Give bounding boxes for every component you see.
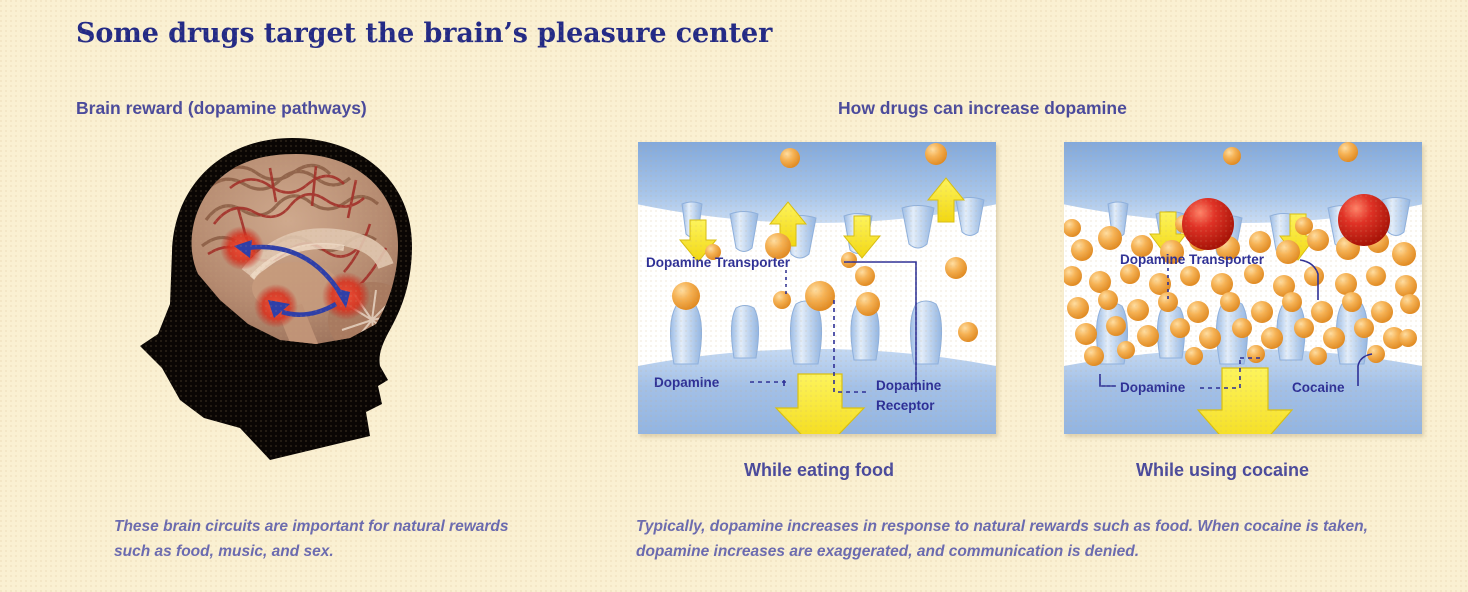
label-dopamine: Dopamine	[1120, 380, 1186, 395]
cocaine-molecule	[1338, 194, 1390, 246]
label-dopamine: Dopamine	[654, 375, 720, 390]
footnote-right: Typically, dopamine increases in respons…	[636, 514, 1426, 564]
label-cocaine: Cocaine	[1292, 380, 1345, 395]
label-dopamine-transporter: Dopamine Transporter	[1120, 252, 1265, 267]
label-dopamine-transporter: Dopamine Transporter	[646, 255, 791, 270]
synapse-panel-eating-food: Dopamine Transporter Dopamine Dopamine R…	[638, 142, 996, 434]
label-dopamine-receptor-line1: Dopamine	[876, 378, 942, 393]
page-title: Some drugs target the brain’s pleasure c…	[76, 18, 772, 49]
label-dopamine-receptor-line2: Receptor	[876, 398, 935, 413]
infographic-page: Some drugs target the brain’s pleasure c…	[0, 0, 1468, 592]
footnote-left: These brain circuits are important for n…	[114, 514, 544, 564]
caption-while-using-cocaine: While using cocaine	[1136, 460, 1309, 481]
cocaine-molecule	[1182, 198, 1234, 250]
head-silhouette-with-brain-illustration	[120, 128, 466, 470]
section-heading-how-drugs-increase-dopamine: How drugs can increase dopamine	[838, 98, 1127, 119]
section-heading-brain-reward: Brain reward (dopamine pathways)	[76, 98, 367, 119]
synapse-panel-using-cocaine: Dopamine Transporter Dopamine Cocaine	[1064, 142, 1422, 434]
caption-while-eating-food: While eating food	[744, 460, 894, 481]
